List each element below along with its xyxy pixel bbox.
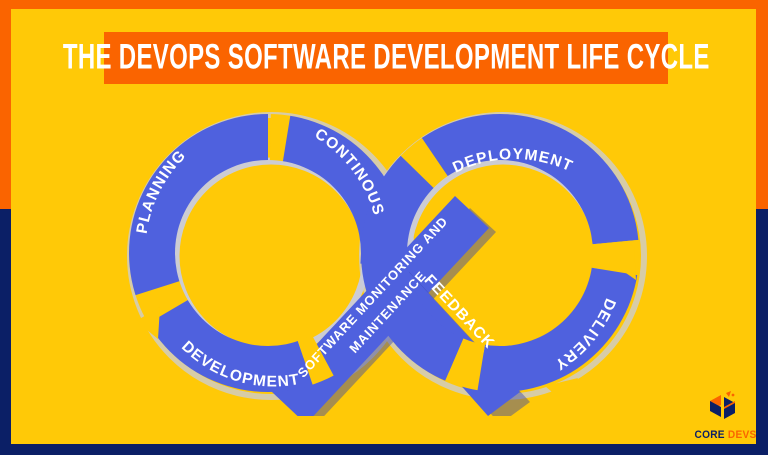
core-devs-cube-icon [700, 391, 746, 423]
logo-text-core: CORE [694, 429, 724, 441]
page-title: THE DEVOPS SOFTWARE DEVELOPMENT LIFE CYC… [63, 40, 710, 75]
border-right-lower [756, 209, 768, 455]
brand-logo: CORE DEVS [692, 391, 754, 441]
poster-canvas: THE DEVOPS SOFTWARE DEVELOPMENT LIFE CYC… [0, 0, 768, 455]
border-bottom [0, 444, 768, 455]
logo-wordmark: CORE DEVS [694, 429, 751, 441]
title-band: THE DEVOPS SOFTWARE DEVELOPMENT LIFE CYC… [104, 32, 668, 84]
border-top [0, 0, 768, 9]
logo-text-devs: DEVS [728, 429, 757, 441]
border-left-upper [0, 0, 11, 209]
segment-delivery [470, 253, 680, 416]
border-left-lower [0, 209, 11, 455]
devops-infinity-diagram: PLANNING CONTINOUS DEVELOPMENT SOFTWARE … [0, 86, 768, 416]
border-right-upper [756, 0, 768, 209]
